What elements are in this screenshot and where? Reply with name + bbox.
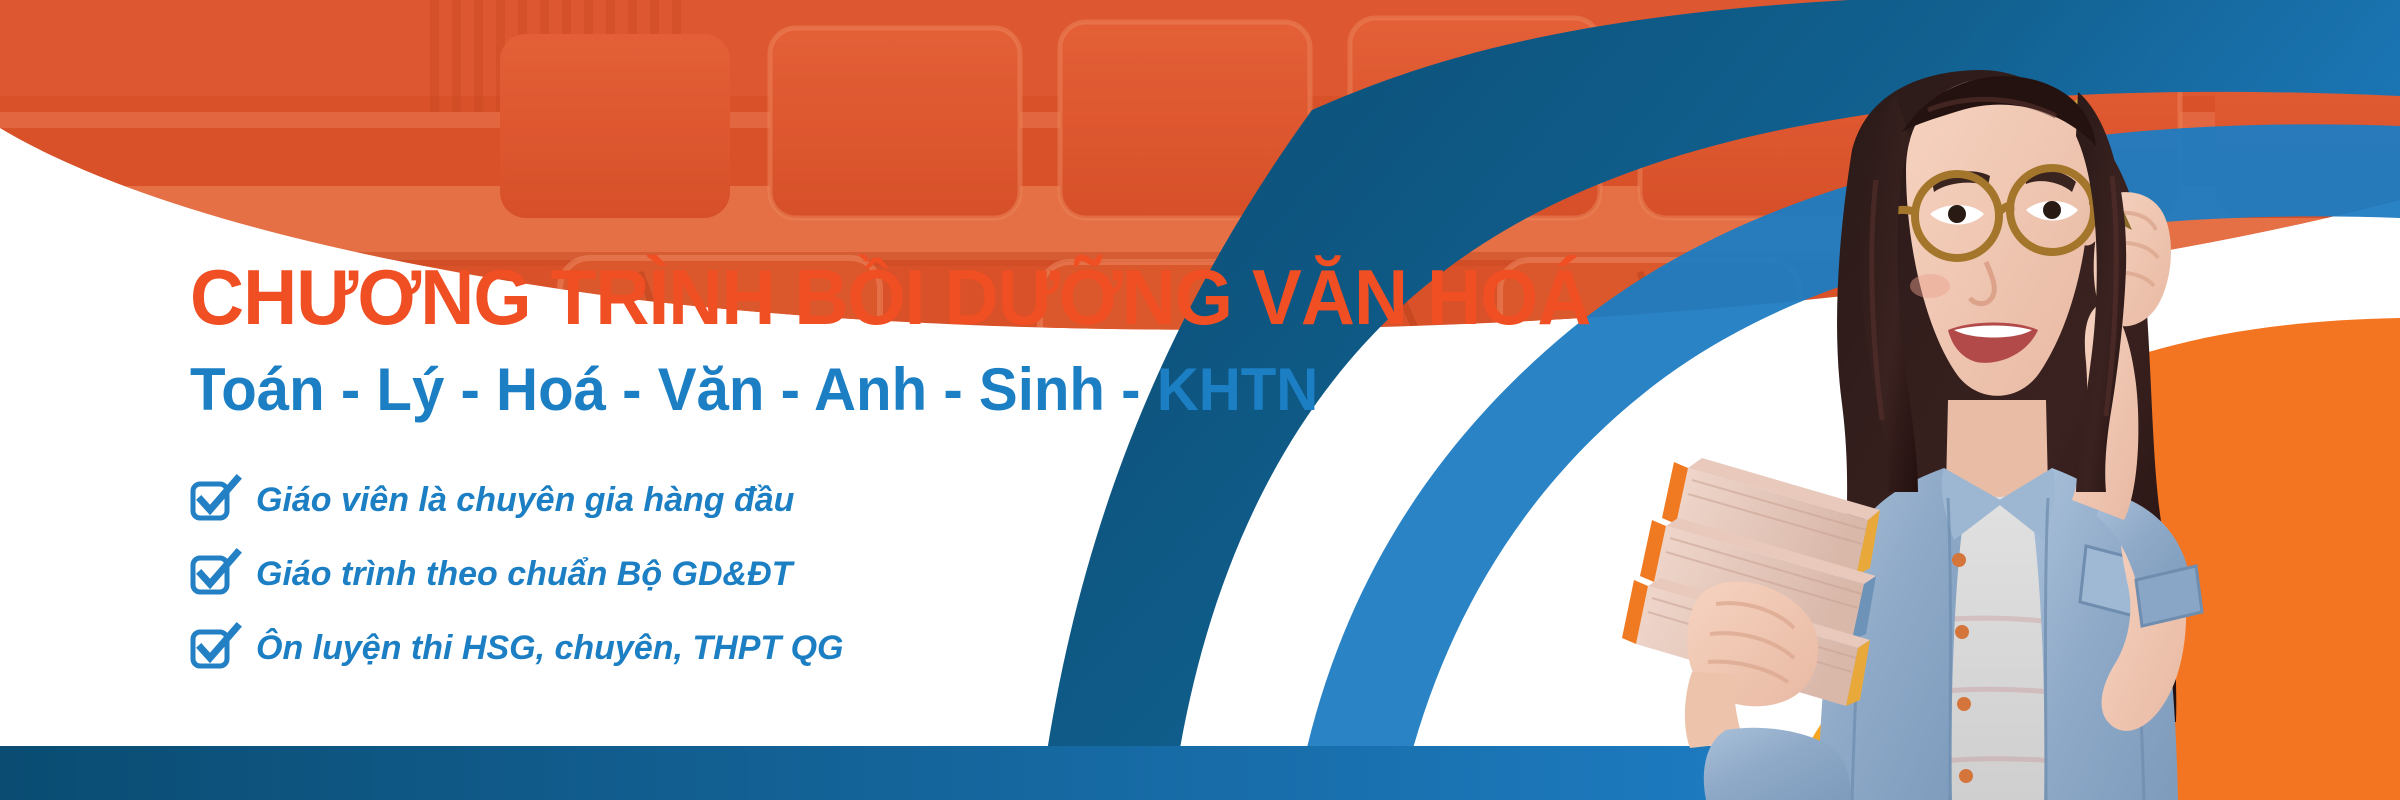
checkbox-checked-icon (190, 478, 234, 522)
list-item-label: Giáo viên là chuyên gia hàng đầu (256, 483, 794, 517)
list-item: Giáo viên là chuyên gia hàng đầu (190, 468, 1370, 532)
list-item-label: Ôn luyện thi HSG, chuyên, THPT QG (256, 631, 844, 665)
list-item: Ôn luyện thi HSG, chuyên, THPT QG (190, 616, 1370, 680)
list-item: Giáo trình theo chuẩn Bộ GD&ĐT (190, 542, 1370, 606)
banner-copy: CHƯƠNG TRÌNH BỒI DƯỠNG VĂN HOÁ Toán - Lý… (190, 258, 1370, 690)
checkbox-checked-icon (190, 626, 234, 670)
student-figure (1622, 70, 2202, 800)
promo-banner: CHƯƠNG TRÌNH BỒI DƯỠNG VĂN HOÁ Toán - Lý… (0, 0, 2400, 800)
cheek-blush (1910, 274, 1950, 298)
list-item-label: Giáo trình theo chuẩn Bộ GD&ĐT (256, 557, 792, 591)
feature-list: Giáo viên là chuyên gia hàng đầu Giáo tr… (190, 468, 1370, 680)
subject-list: Toán - Lý - Hoá - Văn - Anh - Sinh - KHT… (190, 360, 1335, 420)
checkbox-checked-icon (190, 552, 234, 596)
page-title: CHƯƠNG TRÌNH BỒI DƯỠNG VĂN HOÁ (190, 258, 1323, 336)
